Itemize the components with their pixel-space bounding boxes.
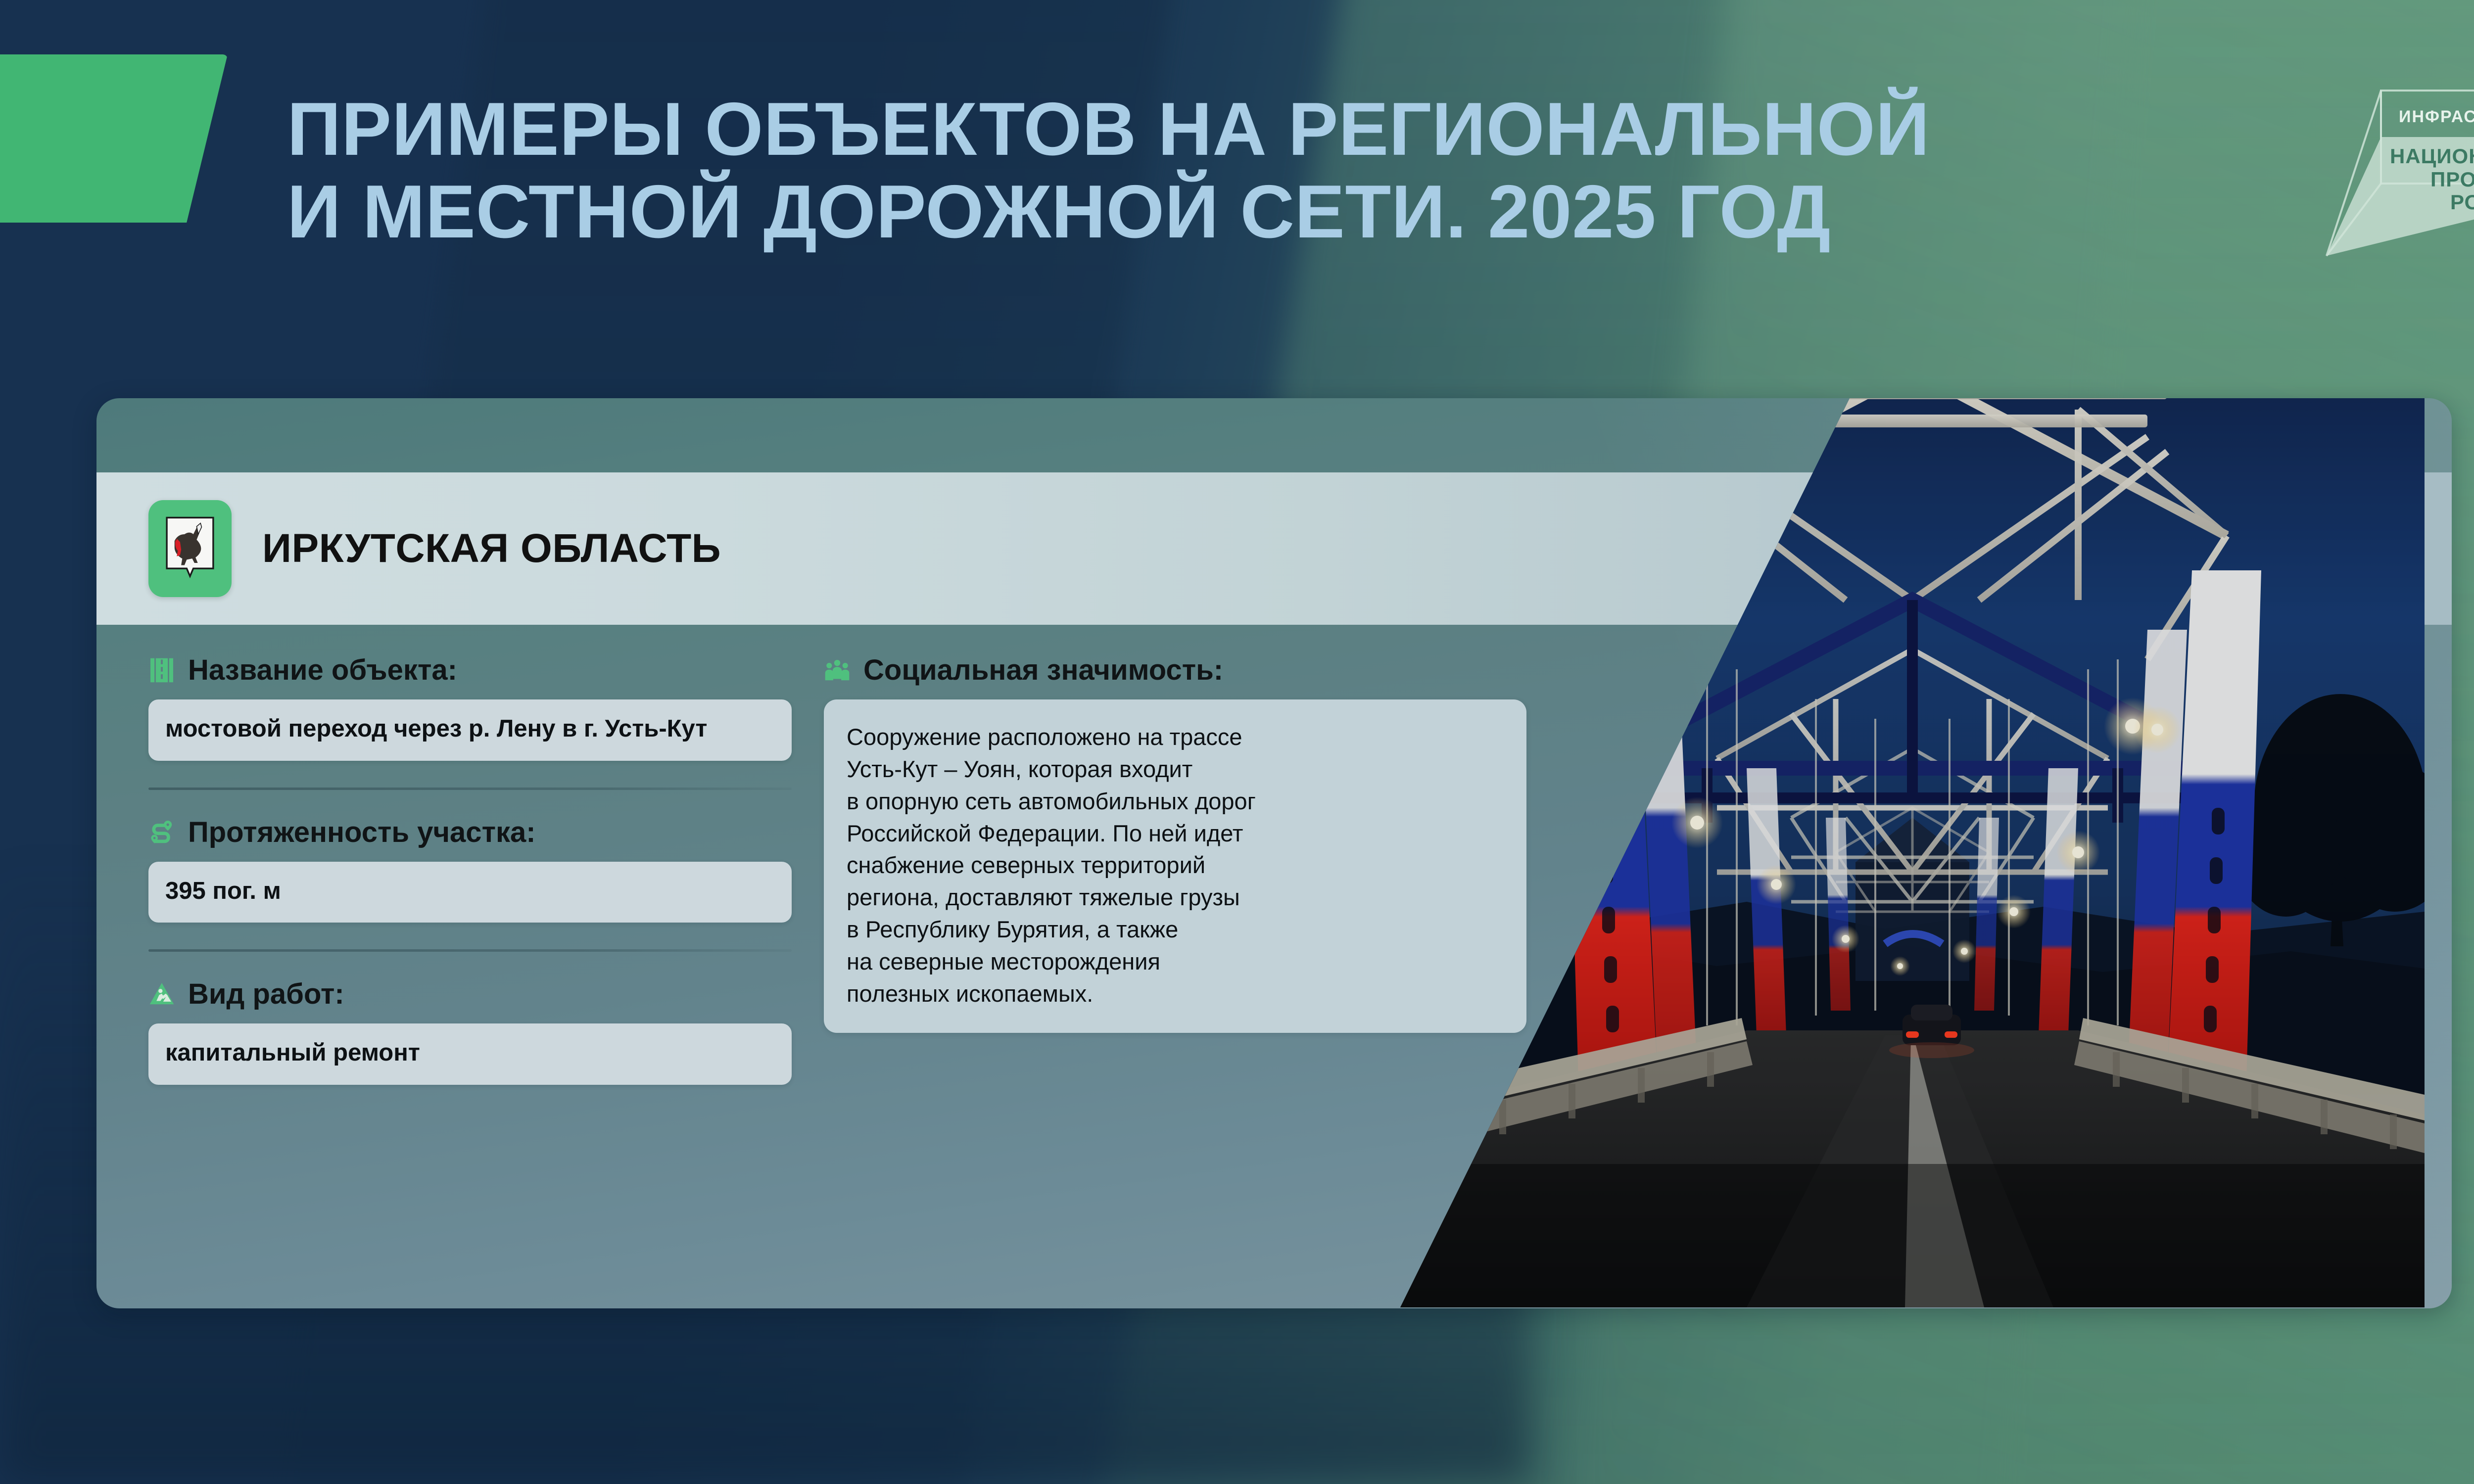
people-group-icon <box>824 657 851 684</box>
field-length-header: Протяженность участка: <box>148 816 792 849</box>
field-object-name-value: мостовой переход через р. Лену в г. Усть… <box>148 699 792 761</box>
field-work-type: Вид работ: капитальный ремонт <box>148 977 792 1085</box>
page-title: ПРИМЕРЫ ОБЪЕКТОВ НА РЕГИОНАЛЬНОЙ И МЕСТН… <box>287 88 1930 253</box>
logo-line-3: РОССИИ <box>2450 190 2474 214</box>
irkutsk-coat-of-arms-icon <box>148 500 232 597</box>
field-length-value: 395 пог. м <box>148 862 792 923</box>
route-icon <box>148 819 175 845</box>
field-work-type-label: Вид работ: <box>188 977 344 1011</box>
region-card: ИРКУТСКАЯ ОБЛАСТЬ Название объекта: <box>96 398 2452 1308</box>
national-projects-logo: ИНФРАСТРУКТУРА НАЦИОНАЛЬНЫЕ ПРОЕКТЫ РОСС… <box>2326 82 2474 265</box>
field-object-name: Название объекта: мостовой переход через… <box>148 653 792 761</box>
field-social-header: Социальная значимость: <box>824 653 1526 687</box>
field-object-name-label: Название объекта: <box>188 653 457 687</box>
field-social: Социальная значимость: Сооружение распол… <box>824 653 1526 1033</box>
logo-line-2: ПРОЕКТЫ <box>2430 168 2474 191</box>
right-column: Социальная значимость: Сооружение распол… <box>824 653 1526 1033</box>
field-social-value: Сооружение расположено на трассе Усть-Ку… <box>824 699 1526 1033</box>
field-social-label: Социальная значимость: <box>863 653 1223 687</box>
field-length-label: Протяженность участка: <box>188 816 536 849</box>
logo-line-1: НАЦИОНАЛЬНЫЕ <box>2390 144 2474 168</box>
logo-line-top: ИНФРАСТРУКТУРА <box>2399 107 2474 126</box>
road-icon <box>148 657 175 684</box>
region-title: ИРКУТСКАЯ ОБЛАСТЬ <box>262 525 721 572</box>
field-length: Протяженность участка: 395 пог. м <box>148 816 792 923</box>
field-divider-2 <box>148 949 792 952</box>
roadworks-sign-icon <box>148 981 175 1008</box>
field-work-type-header: Вид работ: <box>148 977 792 1011</box>
field-divider-1 <box>148 788 792 790</box>
left-column: Название объекта: мостовой переход через… <box>148 653 792 1085</box>
field-object-name-header: Название объекта: <box>148 653 792 687</box>
field-work-type-value: капитальный ремонт <box>148 1023 792 1085</box>
